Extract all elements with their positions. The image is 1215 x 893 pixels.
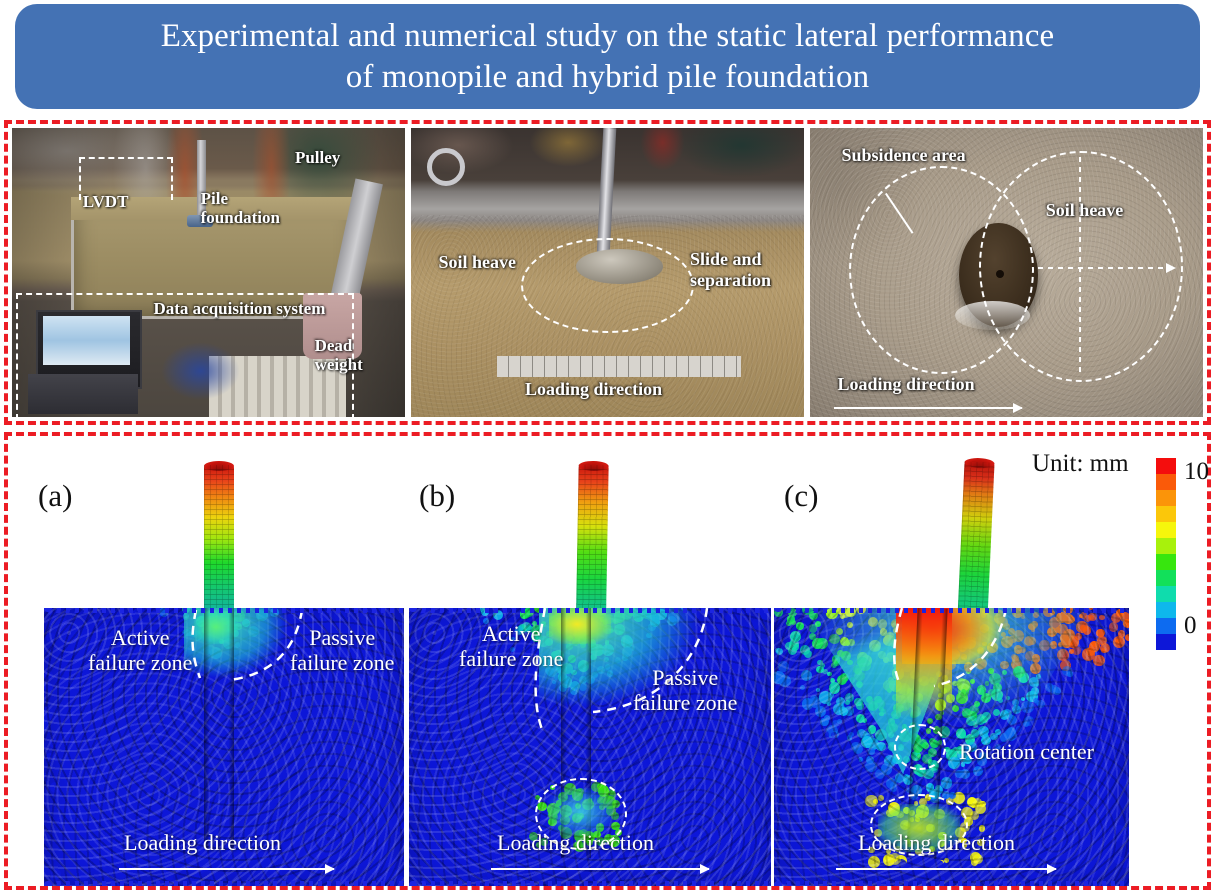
annotation-active-failure-zone-b: Active failure zone [459, 622, 563, 671]
colorbar-segment-2 [1156, 490, 1176, 506]
panel-label-c: (c) [784, 478, 818, 514]
colorbar-segment-9 [1156, 602, 1176, 618]
simulation-row: (a) Active failur [12, 440, 1203, 882]
annotation-passive-failure-zone-a: Passive failure zone [290, 626, 394, 675]
colorbar-min-tick: 0 [1184, 612, 1197, 640]
colorbar-segment-11 [1156, 634, 1176, 650]
colorbar-segment-7 [1156, 570, 1176, 586]
heave-radius-arrow [1038, 267, 1176, 269]
colorbar-segment-8 [1156, 586, 1176, 602]
title-line-1: Experimental and numerical study on the … [161, 16, 1055, 57]
panel-label-b: (b) [419, 478, 455, 514]
sim-panel-c: (c) Unit: mm [774, 440, 1211, 882]
heave-vertical-axis [1079, 157, 1081, 374]
annotation-soil-heave: Soil heave [439, 252, 517, 272]
soil-top-edge-b [409, 608, 771, 613]
annotation-active-failure-zone-a: Active failure zone [88, 626, 192, 675]
colorbar-segment-0 [1156, 458, 1176, 474]
dem-simulation-section: (a) Active failur [4, 432, 1211, 890]
annotation-soil-heave-top: Soil heave [1046, 200, 1124, 220]
colorbar-segment-1 [1156, 474, 1176, 490]
soil-top-edge-a [44, 608, 404, 613]
page-title: Experimental and numerical study on the … [161, 16, 1055, 98]
annotation-loading-direction-a: Loading direction [124, 831, 281, 856]
loading-direction-arrow-b [491, 868, 709, 870]
colorbar-segment-10 [1156, 618, 1176, 634]
soil-disturbance-circle [521, 238, 694, 333]
colorbar-segment-4 [1156, 522, 1176, 538]
title-banner: Experimental and numerical study on the … [15, 4, 1200, 109]
loading-direction-arrow-top [834, 407, 1023, 409]
annotation-loading-direction-c: Loading direction [858, 831, 1015, 856]
annotation-passive-failure-zone-b: Passive failure zone [633, 666, 737, 715]
steel-ruler [497, 356, 741, 376]
annotation-loading-direction-b: Loading direction [497, 831, 654, 856]
photo-row: LVDT Pile foundation Pulley Data acquisi… [12, 128, 1203, 417]
annotation-slide-and-separation: Slide and separation [690, 249, 771, 289]
colorbar-segment-5 [1156, 538, 1176, 554]
colorbar-segment-6 [1156, 554, 1176, 570]
sim-panel-a: (a) Active failur [12, 440, 404, 882]
annotation-pulley: Pulley [295, 148, 340, 167]
loading-direction-arrow-a [119, 868, 334, 870]
sim-panel-b: (b) [401, 440, 781, 882]
title-line-2: of monopile and hybrid pile foundation [161, 57, 1055, 98]
soil-bottom-edge-b [409, 881, 771, 886]
annotation-rotation-center-c: Rotation center [959, 740, 1094, 765]
colorbar-segment-3 [1156, 506, 1176, 522]
annotation-loading-direction: Loading direction [525, 379, 662, 399]
loading-direction-arrow-c [836, 868, 1056, 870]
annotation-lvdt: LVDT [83, 192, 129, 211]
lifting-ring [427, 148, 465, 186]
annotation-subsidence-area: Subsidence area [841, 145, 965, 165]
soil-bottom-edge-c [774, 881, 1129, 886]
colorbar-max-tick: 10 [1184, 458, 1209, 486]
displacement-colorbar [1156, 458, 1176, 650]
experimental-photos-section: LVDT Pile foundation Pulley Data acquisi… [4, 120, 1211, 425]
soil-top-edge-c [774, 608, 1129, 613]
annotation-dead-weight: Dead weight [315, 336, 363, 374]
photo-test-setup-overview: LVDT Pile foundation Pulley Data acquisi… [12, 128, 405, 417]
graphical-abstract-page: Experimental and numerical study on the … [0, 0, 1215, 893]
photo-soil-surface-top-view: Subsidence area Soil heave Loading direc… [810, 128, 1203, 417]
annotation-data-acquisition-system: Data acquisition system [153, 299, 325, 318]
panel-label-a: (a) [38, 478, 72, 514]
annotation-loading-direction-top: Loading direction [838, 374, 975, 394]
photo-pile-cap-close-up: Soil heave Slide and separation Loading … [411, 128, 804, 417]
annotation-pile-foundation: Pile foundation [201, 189, 280, 227]
soil-bottom-edge-a [44, 881, 404, 886]
colorbar-unit-label: Unit: mm [1032, 450, 1129, 478]
